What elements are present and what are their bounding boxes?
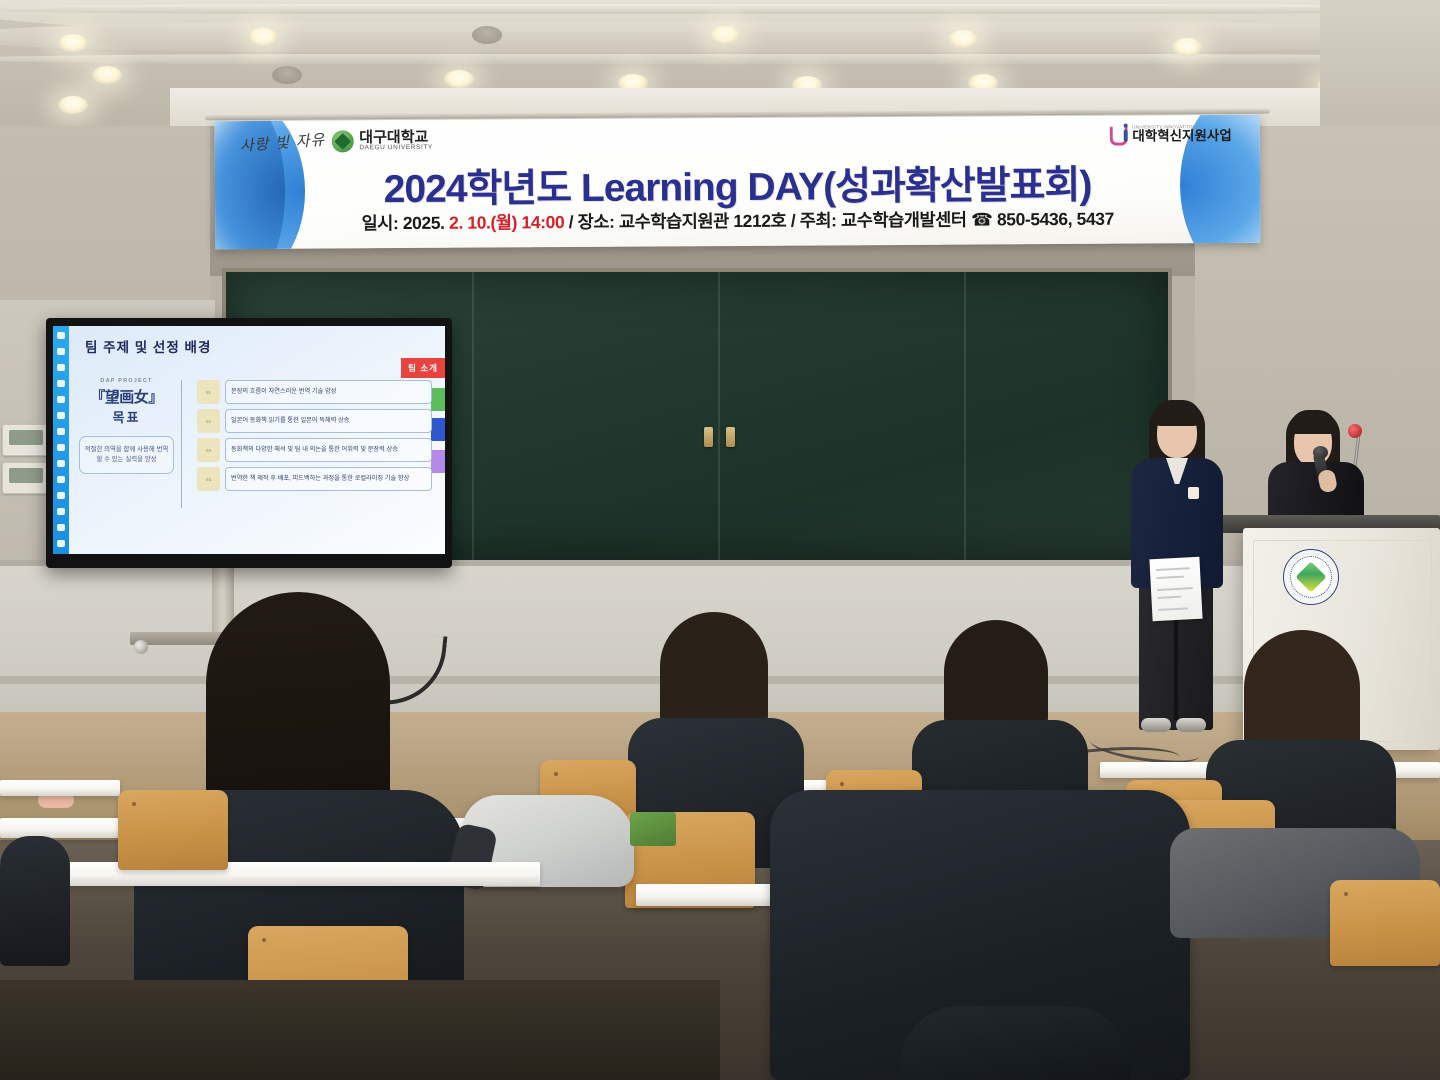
banner-subtitle: 일시: 2025. 2. 10.(월) 14:00 / 장소: 교수학습지원관 … bbox=[215, 205, 1260, 236]
ceiling-strip bbox=[0, 54, 1440, 64]
slide-filmstrip-decoration bbox=[53, 326, 69, 554]
innovation-program-name-kr: 대학혁신지원사업 bbox=[1132, 129, 1231, 144]
slide-bullet-row: 02 일본어 동화책 읽기를 통한 일본어 독해력 상승 bbox=[197, 409, 432, 433]
slide-bullet-row: 03 동화책의 다양한 해석 및 팀 내 의논을 통한 어휘력 및 문장력 상승 bbox=[197, 438, 432, 462]
slide-bullet-list: 01 문장의 흐름이 자연스러운 번역 기술 양성 02 일본어 동화책 읽기를… bbox=[197, 380, 432, 496]
ceiling-downlight bbox=[272, 66, 302, 84]
presentation-display[interactable]: 팀 주제 및 선정 배경 팀 소개 DAP PROJECT 『望画女』 목표 적… bbox=[46, 318, 452, 568]
hair-bangs bbox=[1290, 410, 1336, 434]
ceiling-downlight bbox=[58, 96, 88, 114]
shoe bbox=[1141, 718, 1171, 732]
university-name-en: DAEGU UNIVERSITY bbox=[359, 145, 433, 152]
bullet-text: 동화책의 다양한 해석 및 팀 내 의논을 통한 어휘력 및 문장력 상승 bbox=[225, 438, 432, 462]
chair[interactable] bbox=[1330, 880, 1440, 966]
ceiling-downlight bbox=[1172, 38, 1202, 56]
notebook[interactable] bbox=[630, 812, 676, 846]
project-label: DAP PROJECT bbox=[79, 378, 174, 384]
desk bbox=[0, 780, 120, 796]
bullet-number: 02 bbox=[197, 409, 220, 433]
innovation-program-logo: UNIVERSITY INNOVATION 대학혁신지원사업 bbox=[1109, 123, 1232, 146]
name-badge bbox=[1188, 487, 1199, 499]
chalkboard-handle[interactable] bbox=[726, 427, 735, 447]
university-seal-icon bbox=[1283, 549, 1339, 605]
slide-bullet-row: 04 번역한 책 제작 후 배포, 피드백하는 과정을 통한 로컬라이징 기술 … bbox=[197, 467, 432, 491]
ceiling-downlight bbox=[248, 28, 278, 46]
ceiling-downlight bbox=[710, 26, 740, 44]
goal-text: 적절한 의역을 함께 사용해 번역할 수 있는 실력을 양성 bbox=[79, 436, 174, 474]
bullet-number: 01 bbox=[197, 380, 220, 404]
caster-wheel bbox=[134, 640, 148, 654]
chalkboard-handle[interactable] bbox=[704, 427, 713, 447]
audience-member bbox=[900, 1006, 1130, 1080]
chalkboard-seam bbox=[472, 272, 474, 560]
ceiling-right-panel bbox=[1320, 0, 1440, 130]
bullet-text: 일본어 동화책 읽기를 통한 일본어 독해력 상승 bbox=[225, 409, 432, 433]
bullet-text: 번역한 책 제작 후 배포, 피드백하는 과정을 통한 로컬라이징 기술 향상 bbox=[225, 467, 432, 491]
handwritten-motto: 사랑 빛 자유 bbox=[239, 128, 326, 155]
chair[interactable] bbox=[118, 790, 228, 870]
daegu-university-emblem-icon bbox=[331, 130, 353, 152]
ceiling-downlight bbox=[472, 26, 502, 44]
slide-divider bbox=[181, 380, 182, 508]
slide-left-column: DAP PROJECT 『望画女』 목표 적절한 의역을 함께 사용해 번역할 … bbox=[79, 378, 174, 474]
slide-swatch-purple bbox=[431, 450, 445, 473]
ui-logo-icon bbox=[1109, 124, 1127, 146]
ceiling-downlight bbox=[948, 30, 978, 48]
bullet-number: 03 bbox=[197, 438, 220, 462]
slide-bullet-row: 01 문장의 흐름이 자연스러운 번역 기술 양성 bbox=[197, 380, 432, 404]
ceiling-downlight bbox=[444, 70, 474, 88]
thermostat-panel[interactable] bbox=[2, 424, 52, 456]
ceiling-downlight bbox=[92, 66, 122, 84]
desk bbox=[0, 862, 540, 886]
university-logo: 사랑 빛 자유 대구대학교 DAEGU UNIVERSITY bbox=[240, 126, 433, 157]
microphone-head-icon bbox=[1313, 446, 1328, 459]
presentation-slide: 팀 주제 및 선정 배경 팀 소개 DAP PROJECT 『望画女』 목표 적… bbox=[53, 326, 445, 554]
chalkboard-seam bbox=[964, 272, 966, 560]
university-name: 대구대학교 DAEGU UNIVERSITY bbox=[359, 130, 433, 152]
innovation-program-name: UNIVERSITY INNOVATION 대학혁신지원사업 bbox=[1132, 125, 1231, 144]
goal-heading: 목표 bbox=[79, 407, 174, 426]
printed-script bbox=[1149, 557, 1202, 622]
banner-date-label: 일시: 2025. bbox=[361, 213, 444, 234]
thermostat-panel[interactable] bbox=[2, 462, 52, 494]
torso bbox=[0, 836, 70, 966]
slide-swatch-blue bbox=[431, 418, 445, 441]
slide-swatch-green bbox=[431, 388, 445, 411]
lecture-hall-photo: 사랑 빛 자유 대구대학교 DAEGU UNIVERSITY UNIVERSIT… bbox=[0, 0, 1440, 1080]
ceiling-strip bbox=[0, 4, 1440, 14]
shoe bbox=[1176, 718, 1206, 732]
slide-section-tag: 팀 소개 bbox=[401, 358, 445, 378]
event-banner: 사랑 빛 자유 대구대학교 DAEGU UNIVERSITY UNIVERSIT… bbox=[215, 115, 1261, 249]
ceiling-downlight bbox=[58, 34, 88, 52]
slide-title: 팀 주제 및 선정 배경 bbox=[85, 336, 211, 356]
bullet-number: 04 bbox=[197, 467, 220, 491]
hair-bangs bbox=[1153, 400, 1201, 426]
banner-date-highlight: 2. 10.(월) 14:00 bbox=[449, 212, 564, 233]
project-name: 『望画女』 bbox=[79, 386, 174, 407]
bullet-text: 문장의 흐름이 자연스러운 번역 기술 양성 bbox=[225, 380, 432, 404]
foreground-floor bbox=[0, 980, 720, 1080]
microphone-icon bbox=[1348, 424, 1362, 438]
chalkboard-seam bbox=[718, 272, 720, 560]
banner-venue-host: / 장소: 교수학습지원관 1212호 / 주최: 교수학습개발센터 ☎ 850… bbox=[569, 209, 1114, 232]
